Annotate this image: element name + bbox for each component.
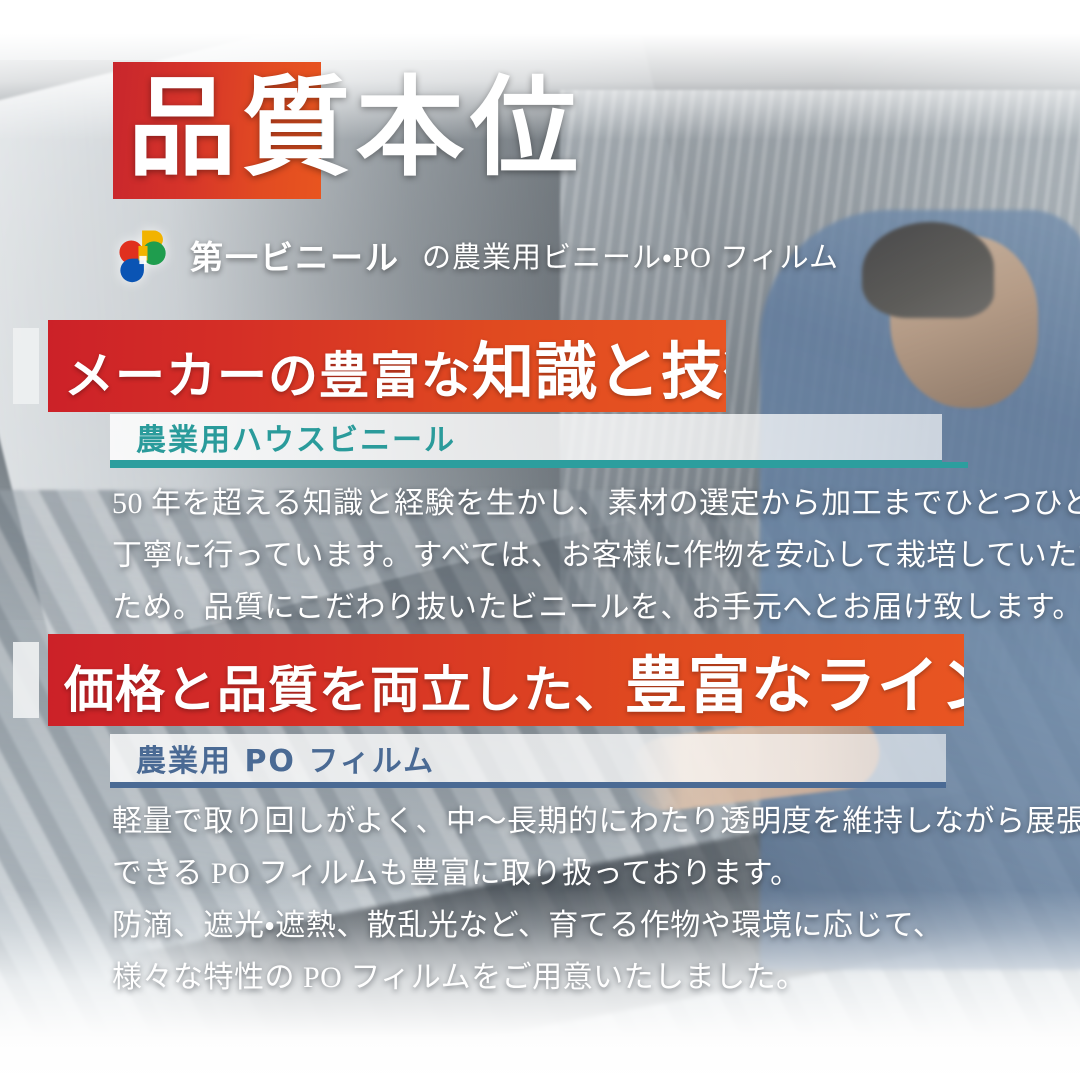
section-2-ribbon-label: 農業用 PO フィルム (136, 736, 435, 780)
section-1-body-line: 50 年を超える知識と経験を生かし、素材の選定から加工までひとつひとつ (112, 478, 1080, 530)
section-2-heading-large: 豊富なラインナップ (625, 653, 964, 721)
section-2-ribbon: 農業用 PO フィルム (110, 734, 946, 788)
section-1-heading-large: 知識と技術 (472, 339, 726, 407)
section-2-body: 軽量で取り回しがよく、中〜長期的にわたり透明度を維持しながら展張 できる PO … (112, 796, 1080, 1004)
hero-title: 品質本位 (128, 66, 584, 194)
banner-content: 品質本位 第一ビニール の農業用ビニール・PO フィルム (0, 0, 1080, 1080)
section-1-body: 50 年を超える知識と経験を生かし、素材の選定から加工までひとつひとつ 丁寧に行… (112, 478, 1080, 634)
section-1-ribbon: 農業用ハウスビニール (110, 414, 942, 466)
brand-name: 第一ビニール (190, 231, 400, 279)
section-1-body-line: ため。品質にこだわり抜いたビニールを、お手元へとお届け致します。 (112, 582, 1080, 634)
section-2-body-line: 軽量で取り回しがよく、中〜長期的にわたり透明度を維持しながら展張 (112, 796, 1080, 848)
section-2-heading-small: 価格と品質を両立した、 (64, 662, 625, 718)
promo-banner: 品質本位 第一ビニール の農業用ビニール・PO フィルム (0, 0, 1080, 1080)
brand-line: 第一ビニール の農業用ビニール・PO フィルム (114, 226, 839, 284)
hero-title-group: 品質本位 (0, 62, 1080, 202)
section-2-body-line: 様々な特性の PO フィルムをご用意いたしました。 (112, 952, 1080, 1004)
section-2-bar-tick (13, 642, 39, 718)
section-1-body-line: 丁寧に行っています。すべては、お客様に作物を安心して栽培していただく (112, 530, 1080, 582)
brand-tagline: の農業用ビニール・PO フィルム (422, 234, 839, 276)
section-1-ribbon-underline-extension (110, 462, 968, 468)
section-2-body-line: 防滴、遮光・遮熱、散乱光など、育てる作物や環境に応じて、 (112, 900, 1080, 952)
section-2-heading-bar: 価格と品質を両立した、豊富なラインナップ (48, 634, 964, 726)
section-2-body-line: できる PO フィルムも豊富に取り扱っております。 (112, 848, 1080, 900)
pinwheel-flower-logo-icon (114, 226, 172, 284)
section-1-heading-small: メーカーの豊富な (64, 348, 472, 404)
section-1-heading-bar: メーカーの豊富な知識と技術 (48, 320, 726, 412)
section-1-bar-tick (13, 328, 39, 404)
section-1-ribbon-label: 農業用ハウスビニール (136, 415, 456, 459)
